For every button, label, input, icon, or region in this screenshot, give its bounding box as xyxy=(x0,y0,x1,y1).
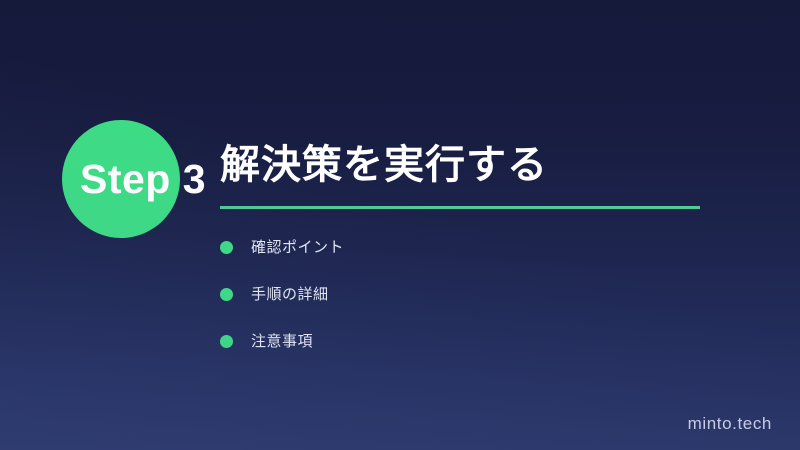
footer-brand: minto.tech xyxy=(688,415,772,432)
bullet-dot-icon xyxy=(220,288,233,301)
bullet-list: 確認ポイント 手順の詳細 注意事項 xyxy=(220,233,344,374)
step-badge: Step 3 xyxy=(36,120,250,238)
list-item-label: 手順の詳細 xyxy=(251,287,329,302)
bullet-dot-icon xyxy=(220,241,233,254)
bullet-dot-icon xyxy=(220,335,233,348)
slide-content: 解決策を実行する xyxy=(220,142,702,209)
title-divider xyxy=(220,206,700,209)
list-item: 注意事項 xyxy=(220,327,344,356)
list-item-label: 注意事項 xyxy=(251,334,313,349)
list-item: 確認ポイント xyxy=(220,233,344,262)
step-badge-label: Step 3 xyxy=(36,120,250,238)
list-item-label: 確認ポイント xyxy=(251,240,344,255)
list-item: 手順の詳細 xyxy=(220,280,344,309)
slide-canvas: Step 3 解決策を実行する 確認ポイント 手順の詳細 注意事項 minto.… xyxy=(0,0,800,450)
page-title: 解決策を実行する xyxy=(220,142,702,189)
